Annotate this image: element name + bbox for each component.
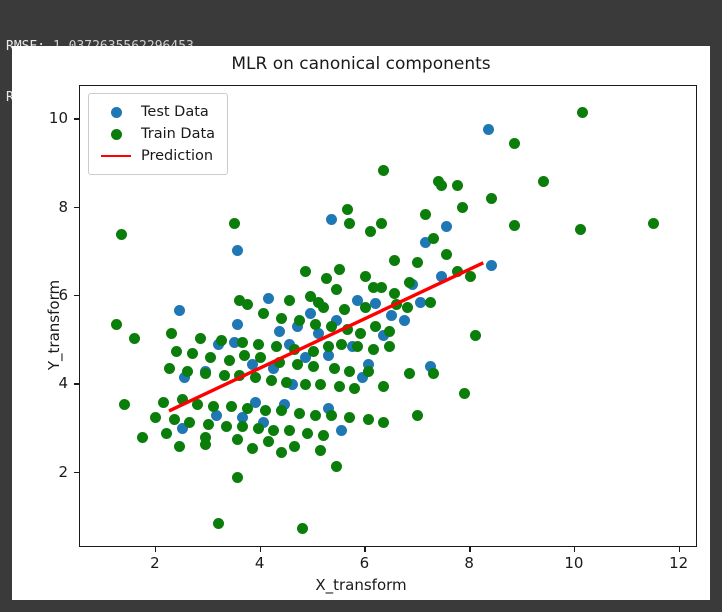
scatter-point-train	[300, 379, 311, 390]
scatter-point-train	[441, 249, 452, 260]
matplotlib-figure: MLR on canonical components Y_transform …	[12, 46, 710, 600]
scatter-point-train	[378, 417, 389, 428]
scatter-point-test	[441, 221, 452, 232]
scatter-point-train	[205, 352, 216, 363]
scatter-point-train	[509, 220, 520, 231]
scatter-point-test	[486, 260, 497, 271]
y-tick-label: 6	[58, 286, 68, 304]
x-tick-mark	[155, 547, 156, 552]
scatter-point-train	[229, 218, 240, 229]
scatter-point-train	[378, 381, 389, 392]
scatter-point-train	[192, 399, 203, 410]
legend-marker-test-data-icon	[97, 107, 135, 118]
legend-label-train-data: Train Data	[135, 127, 215, 142]
scatter-point-train	[339, 304, 350, 315]
scatter-point-train	[336, 339, 347, 350]
scatter-point-train	[150, 412, 161, 423]
scatter-point-test	[263, 293, 274, 304]
scatter-point-train	[389, 255, 400, 266]
x-tick-mark	[574, 547, 575, 552]
chart-title: MLR on canonical components	[12, 54, 710, 74]
scatter-point-train	[412, 257, 423, 268]
scatter-point-train	[116, 229, 127, 240]
scatter-point-test	[386, 310, 397, 321]
scatter-point-train	[459, 388, 470, 399]
scatter-point-train	[213, 518, 224, 529]
scatter-point-test	[483, 124, 494, 135]
scatter-point-train	[137, 432, 148, 443]
legend-item-prediction: Prediction	[97, 145, 215, 167]
scatter-point-train	[457, 202, 468, 213]
scatter-point-train	[232, 472, 243, 483]
scatter-point-train	[452, 266, 463, 277]
scatter-point-train	[226, 401, 237, 412]
scatter-point-train	[208, 401, 219, 412]
scatter-point-train	[360, 271, 371, 282]
scatter-point-train	[509, 138, 520, 149]
scatter-point-train	[368, 282, 379, 293]
scatter-point-train	[247, 443, 258, 454]
scatter-point-train	[284, 295, 295, 306]
scatter-point-train	[420, 209, 431, 220]
scatter-point-train	[195, 333, 206, 344]
scatter-point-train	[276, 405, 287, 416]
scatter-point-train	[253, 339, 264, 350]
scatter-point-test	[326, 214, 337, 225]
scatter-point-train	[242, 299, 253, 310]
scatter-point-train	[321, 273, 332, 284]
scatter-point-train	[294, 408, 305, 419]
scatter-point-train	[363, 366, 374, 377]
scatter-point-train	[355, 328, 366, 339]
scatter-point-train	[344, 366, 355, 377]
scatter-point-train	[315, 445, 326, 456]
scatter-point-train	[412, 410, 423, 421]
scatter-point-train	[253, 423, 264, 434]
scatter-point-train	[219, 370, 230, 381]
scatter-point-train	[323, 341, 334, 352]
scatter-point-train	[391, 299, 402, 310]
scatter-point-test	[274, 326, 285, 337]
x-tick-mark	[469, 547, 470, 552]
legend-label-test-data: Test Data	[135, 105, 209, 120]
scatter-point-train	[310, 410, 321, 421]
scatter-point-train	[648, 218, 659, 229]
scatter-point-train	[161, 428, 172, 439]
scatter-point-train	[365, 226, 376, 237]
scatter-point-train	[378, 165, 389, 176]
scatter-point-train	[111, 319, 122, 330]
scatter-point-train	[250, 372, 261, 383]
scatter-point-train	[318, 430, 329, 441]
legend-label-prediction: Prediction	[135, 149, 213, 164]
chart-legend: Test Data Train Data Prediction	[88, 93, 228, 175]
scatter-point-train	[158, 397, 169, 408]
scatter-point-train	[169, 414, 180, 425]
y-tick-label: 8	[58, 198, 68, 216]
scatter-point-train	[174, 441, 185, 452]
scatter-point-train	[470, 330, 481, 341]
scatter-point-train	[177, 394, 188, 405]
scatter-point-train	[297, 523, 308, 534]
scatter-point-train	[216, 335, 227, 346]
scatter-point-test	[232, 245, 243, 256]
x-tick-mark	[679, 547, 680, 552]
scatter-point-train	[376, 218, 387, 229]
scatter-point-train	[428, 368, 439, 379]
plot-area: Test Data Train Data Prediction	[79, 85, 697, 547]
console-output: RMSE: 1.0372635562296453 R²: 0.366327671…	[0, 0, 722, 44]
scatter-point-test	[399, 315, 410, 326]
scatter-point-test	[370, 298, 381, 309]
scatter-point-train	[315, 379, 326, 390]
scatter-point-train	[389, 288, 400, 299]
x-tick-label: 4	[255, 554, 265, 572]
scatter-point-train	[271, 341, 282, 352]
scatter-point-train	[242, 403, 253, 414]
scatter-point-train	[404, 368, 415, 379]
scatter-point-train	[268, 425, 279, 436]
scatter-point-train	[402, 302, 413, 313]
x-tick-mark	[364, 547, 365, 552]
scatter-point-train	[300, 266, 311, 277]
x-tick-mark	[260, 547, 261, 552]
x-tick-label: 8	[464, 554, 474, 572]
scatter-point-train	[305, 291, 316, 302]
scatter-point-train	[182, 366, 193, 377]
scatter-point-train	[326, 410, 337, 421]
scatter-point-train	[331, 461, 342, 472]
scatter-point-train	[294, 315, 305, 326]
scatter-point-train	[452, 180, 463, 191]
y-tick-label: 10	[49, 109, 68, 127]
scatter-point-train	[200, 368, 211, 379]
scatter-point-train	[308, 361, 319, 372]
scatter-point-train	[237, 337, 248, 348]
scatter-point-train	[342, 204, 353, 215]
scatter-point-train	[331, 284, 342, 295]
scatter-point-train	[237, 421, 248, 432]
scatter-point-test	[415, 297, 426, 308]
scatter-point-test	[336, 425, 347, 436]
scatter-point-train	[360, 302, 371, 313]
scatter-point-train	[274, 357, 285, 368]
scatter-point-train	[184, 417, 195, 428]
scatter-point-train	[575, 224, 586, 235]
x-axis-label: X_transform	[12, 576, 710, 594]
scatter-point-train	[334, 381, 345, 392]
scatter-point-train	[224, 355, 235, 366]
legend-item-test-data: Test Data	[97, 101, 215, 123]
scatter-point-train	[538, 176, 549, 187]
scatter-point-train	[292, 359, 303, 370]
scatter-point-train	[260, 405, 271, 416]
scatter-point-train	[289, 441, 300, 452]
scatter-point-train	[465, 271, 476, 282]
scatter-point-train	[234, 370, 245, 381]
y-tick-label: 4	[58, 374, 68, 392]
scatter-point-train	[284, 425, 295, 436]
scatter-point-train	[276, 447, 287, 458]
scatter-point-train	[384, 341, 395, 352]
scatter-point-train	[276, 313, 287, 324]
scatter-point-train	[384, 326, 395, 337]
scatter-point-train	[281, 377, 292, 388]
scatter-point-train	[436, 180, 447, 191]
scatter-point-train	[258, 308, 269, 319]
legend-marker-prediction-icon	[97, 155, 135, 158]
scatter-point-train	[368, 344, 379, 355]
x-tick-label: 2	[150, 554, 160, 572]
scatter-point-train	[318, 302, 329, 313]
scatter-point-train	[344, 412, 355, 423]
scatter-point-train	[289, 344, 300, 355]
scatter-point-train	[342, 324, 353, 335]
scatter-point-test	[436, 271, 447, 282]
y-tick-label: 2	[58, 463, 68, 481]
scatter-point-train	[187, 348, 198, 359]
scatter-point-train	[263, 436, 274, 447]
scatter-point-train	[329, 363, 340, 374]
scatter-point-train	[203, 419, 214, 430]
scatter-point-test	[174, 305, 185, 316]
scatter-point-train	[326, 321, 337, 332]
scatter-point-train	[221, 421, 232, 432]
scatter-point-train	[352, 341, 363, 352]
x-tick-label: 10	[564, 554, 583, 572]
scatter-point-train	[577, 107, 588, 118]
scatter-point-train	[334, 264, 345, 275]
scatter-point-train	[344, 218, 355, 229]
screen: RMSE: 1.0372635562296453 R²: 0.366327671…	[0, 0, 722, 612]
scatter-point-train	[363, 414, 374, 425]
scatter-point-train	[349, 383, 360, 394]
scatter-point-train	[166, 328, 177, 339]
scatter-point-train	[425, 297, 436, 308]
scatter-point-train	[428, 233, 439, 244]
x-tick-label: 6	[360, 554, 370, 572]
scatter-point-train	[171, 346, 182, 357]
legend-item-train-data: Train Data	[97, 123, 215, 145]
scatter-point-train	[119, 399, 130, 410]
scatter-point-test	[305, 308, 316, 319]
scatter-point-train	[308, 346, 319, 357]
scatter-point-train	[232, 434, 243, 445]
scatter-point-train	[266, 375, 277, 386]
scatter-point-train	[255, 352, 266, 363]
scatter-point-test	[232, 319, 243, 330]
scatter-point-train	[200, 439, 211, 450]
scatter-point-train	[129, 333, 140, 344]
scatter-point-train	[486, 193, 497, 204]
legend-marker-train-data-icon	[97, 129, 135, 140]
scatter-point-train	[302, 428, 313, 439]
scatter-point-train	[164, 363, 175, 374]
x-tick-label: 12	[669, 554, 688, 572]
